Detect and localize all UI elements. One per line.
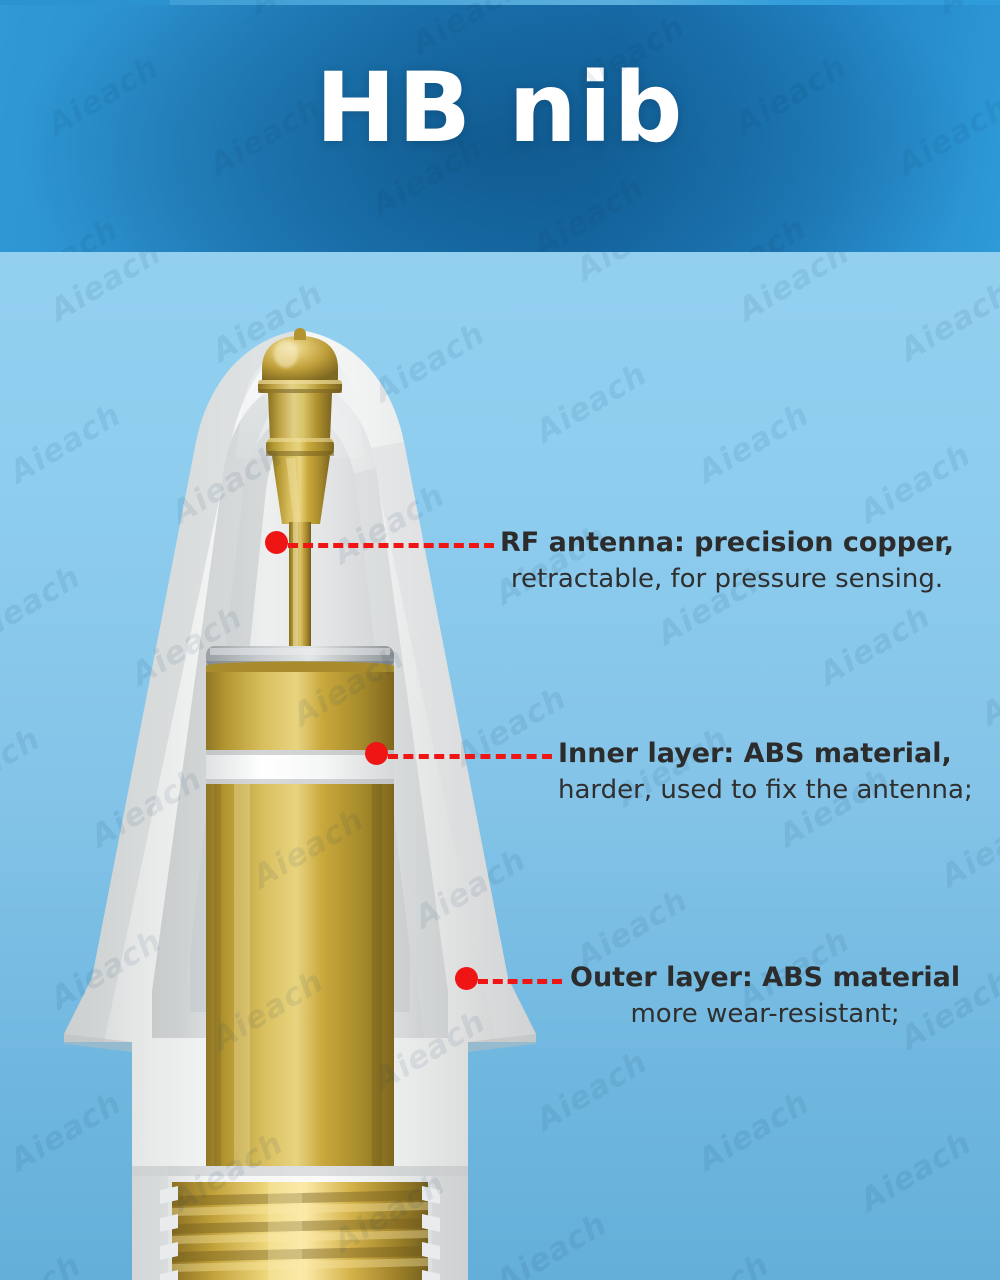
infographic-canvas: AieachAieachAieachAieachAieachAieachAiea… (0, 0, 1000, 1280)
callout-leader-line-outer-layer (478, 979, 562, 984)
callout-marker-dot-outer-layer (455, 967, 478, 990)
callout-inner-layer-line2: harder, used to fix the antenna; (558, 774, 973, 807)
callout-marker-dot-rf-antenna (265, 531, 288, 554)
callout-text-rf-antenna: RF antenna: precision copper, retractabl… (500, 527, 954, 595)
callout-rf-antenna-line2: retractable, for pressure sensing. (500, 563, 954, 596)
callout-marker-dot-inner-layer (365, 742, 388, 765)
callout-outer-layer-line1: Outer layer: ABS material (570, 962, 960, 993)
callout-layer: RF antenna: precision copper, retractabl… (0, 0, 1000, 1280)
callout-leader-line-rf-antenna (288, 543, 494, 548)
callout-leader-line-inner-layer (388, 754, 552, 759)
callout-rf-antenna-line1: RF antenna: precision copper, (500, 527, 954, 558)
callout-text-outer-layer: Outer layer: ABS material more wear-resi… (570, 962, 960, 1030)
callout-text-inner-layer: Inner layer: ABS material, harder, used … (558, 738, 973, 806)
callout-outer-layer-line2: more wear-resistant; (570, 998, 960, 1031)
callout-inner-layer-line1: Inner layer: ABS material, (558, 738, 952, 769)
